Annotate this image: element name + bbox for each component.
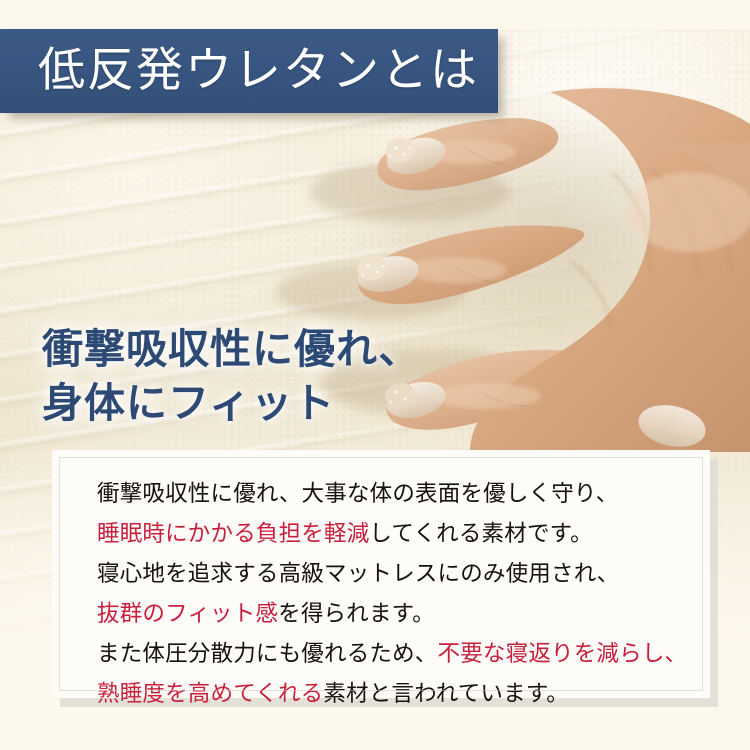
copy-seg-highlight: 不要な寝返りを減らし、 [438,641,688,666]
headline: 衝撃吸収性に優れ、 身体にフィット [42,322,562,430]
title-banner: 低反発ウレタンとは [0,29,498,113]
copy-line-2: 睡眠時にかかる負担を軽減してくれる素材です。 [97,514,692,554]
copy-seg-highlight: 熟睡度を高めてくれる [97,681,323,706]
copy-line-1: 衝撃吸収性に優れ、大事な体の表面を優しく守り、 [97,474,692,514]
copy-line-4: 抜群のフィット感を得られます。 [97,594,692,634]
copy-seg: 衝撃吸収性に優れ、大事な体の表面を優しく守り、 [97,481,618,506]
copy-panel: 衝撃吸収性に優れ、大事な体の表面を優しく守り、 睡眠時にかかる負担を軽減してくれ… [52,450,710,698]
copy-line-3: 寝心地を追求する高級マットレスにのみ使用され、 [97,554,692,594]
copy-seg-highlight: 抜群のフィット感 [97,601,278,626]
copy-line-6: 熟睡度を高めてくれる素材と言われています。 [97,674,692,714]
copy-seg: また体圧分散力にも優れるため、 [97,641,438,666]
copy-seg: してくれる素材です。 [369,521,592,546]
headline-line-1: 衝撃吸収性に優れ、 [42,322,562,376]
copy-line-5: また体圧分散力にも優れるため、不要な寝返りを減らし、 [97,634,692,674]
copy-seg-highlight: 睡眠時にかかる負担を軽減 [97,521,369,546]
copy-seg: を得られます。 [278,601,435,626]
page-title: 低反発ウレタンとは [0,48,479,95]
top-margin-strip [0,0,750,30]
copy-seg: 素材と言われています。 [323,681,569,706]
copy-seg: 寝心地を追求する高級マットレスにのみ使用され、 [97,561,619,586]
headline-line-2: 身体にフィット [42,376,562,430]
advertisement-root: 低反発ウレタンとは 衝撃吸収性に優れ、 身体にフィット 衝撃吸収性に優れ、大事な… [0,0,750,750]
copy-text: 衝撃吸収性に優れ、大事な体の表面を優しく守り、 睡眠時にかかる負担を軽減してくれ… [97,474,692,714]
